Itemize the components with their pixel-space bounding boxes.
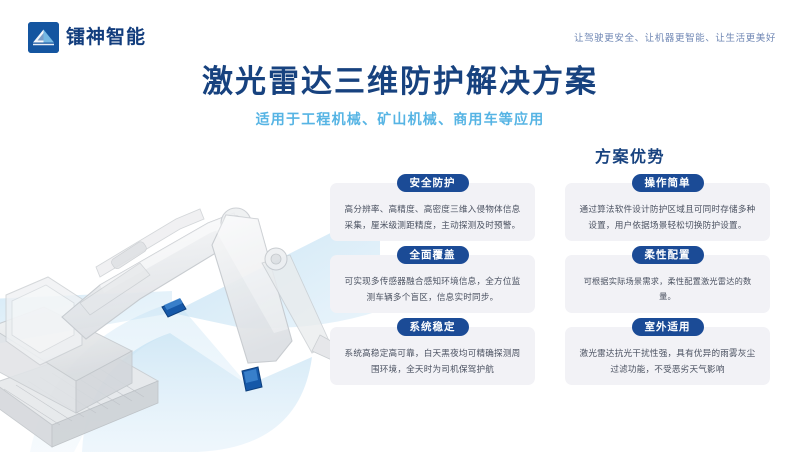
advantages-heading: 方案优势: [330, 143, 770, 167]
status-badge: 柔性配置: [632, 246, 704, 264]
brand-name: 镭神智能: [66, 28, 146, 47]
advantages-card-grid: 安全防护 高分辨率、高精度、高密度三维入侵物体信息采集，厘米级测距精度，主动探测…: [330, 183, 770, 385]
status-badge: 室外适用: [632, 318, 704, 336]
status-badge: 操作简单: [632, 174, 704, 192]
status-badge: 系统稳定: [397, 318, 469, 336]
advantage-card-text: 激光雷达抗光干扰性强，具有优异的雨雾灰尘过滤功能，不受恶劣天气影响: [577, 346, 758, 376]
brand-logo[interactable]: 镭神智能: [28, 22, 146, 53]
excavator-lidar-illustration: [0, 95, 380, 452]
status-badge: 全面覆盖: [397, 246, 469, 264]
advantage-card-text: 高分辨率、高精度、高密度三维入侵物体信息采集，厘米级测距精度，主动探测及时预警。: [342, 202, 523, 232]
header-tagline: 让驾驶更安全、让机器更智能、让生活更美好: [574, 30, 776, 44]
advantage-card[interactable]: 安全防护 高分辨率、高精度、高密度三维入侵物体信息采集，厘米级测距精度，主动探测…: [330, 183, 535, 241]
page-title: 激光雷达三维防护解决方案: [150, 64, 650, 101]
advantages-section: 方案优势 安全防护 高分辨率、高精度、高密度三维入侵物体信息采集，厘米级测距精度…: [330, 143, 770, 385]
advantage-card[interactable]: 操作简单 通过算法软件设计防护区域且可同时存储多种设置，用户依据场景轻松切换防护…: [565, 183, 770, 241]
advantage-card[interactable]: 系统稳定 系统高稳定高可靠，白天黑夜均可精确探测周围环境，全天时为司机保驾护航: [330, 327, 535, 385]
status-badge: 安全防护: [397, 174, 469, 192]
advantage-card-text: 可根据实际场景需求，柔性配置激光雷达的数量。: [577, 275, 758, 304]
advantage-card-text: 可实现多传感器融合感知环境信息，全方位监测车辆多个盲区，信息实时同步。: [342, 274, 523, 304]
leishen-logo-icon: [28, 22, 59, 53]
hero-title-block: 激光雷达三维防护解决方案 适用于工程机械、矿山机械、商用车等应用: [150, 64, 650, 129]
advantage-card[interactable]: 室外适用 激光雷达抗光干扰性强，具有优异的雨雾灰尘过滤功能，不受恶劣天气影响: [565, 327, 770, 385]
lidar-sensor-arm: [242, 367, 262, 391]
advantage-card-text: 通过算法软件设计防护区域且可同时存储多种设置，用户依据场景轻松切换防护设置。: [577, 202, 758, 232]
advantage-card[interactable]: 全面覆盖 可实现多传感器融合感知环境信息，全方位监测车辆多个盲区，信息实时同步。: [330, 255, 535, 313]
slide-root: 镭神智能 让驾驶更安全、让机器更智能、让生活更美好: [0, 0, 800, 452]
page-header: 镭神智能 让驾驶更安全、让机器更智能、让生活更美好: [0, 0, 800, 62]
page-subtitle: 适用于工程机械、矿山机械、商用车等应用: [150, 109, 650, 129]
advantage-card-text: 系统高稳定高可靠，白天黑夜均可精确探测周围环境，全天时为司机保驾护航: [342, 346, 523, 376]
advantage-card[interactable]: 柔性配置 可根据实际场景需求，柔性配置激光雷达的数量。: [565, 255, 770, 313]
